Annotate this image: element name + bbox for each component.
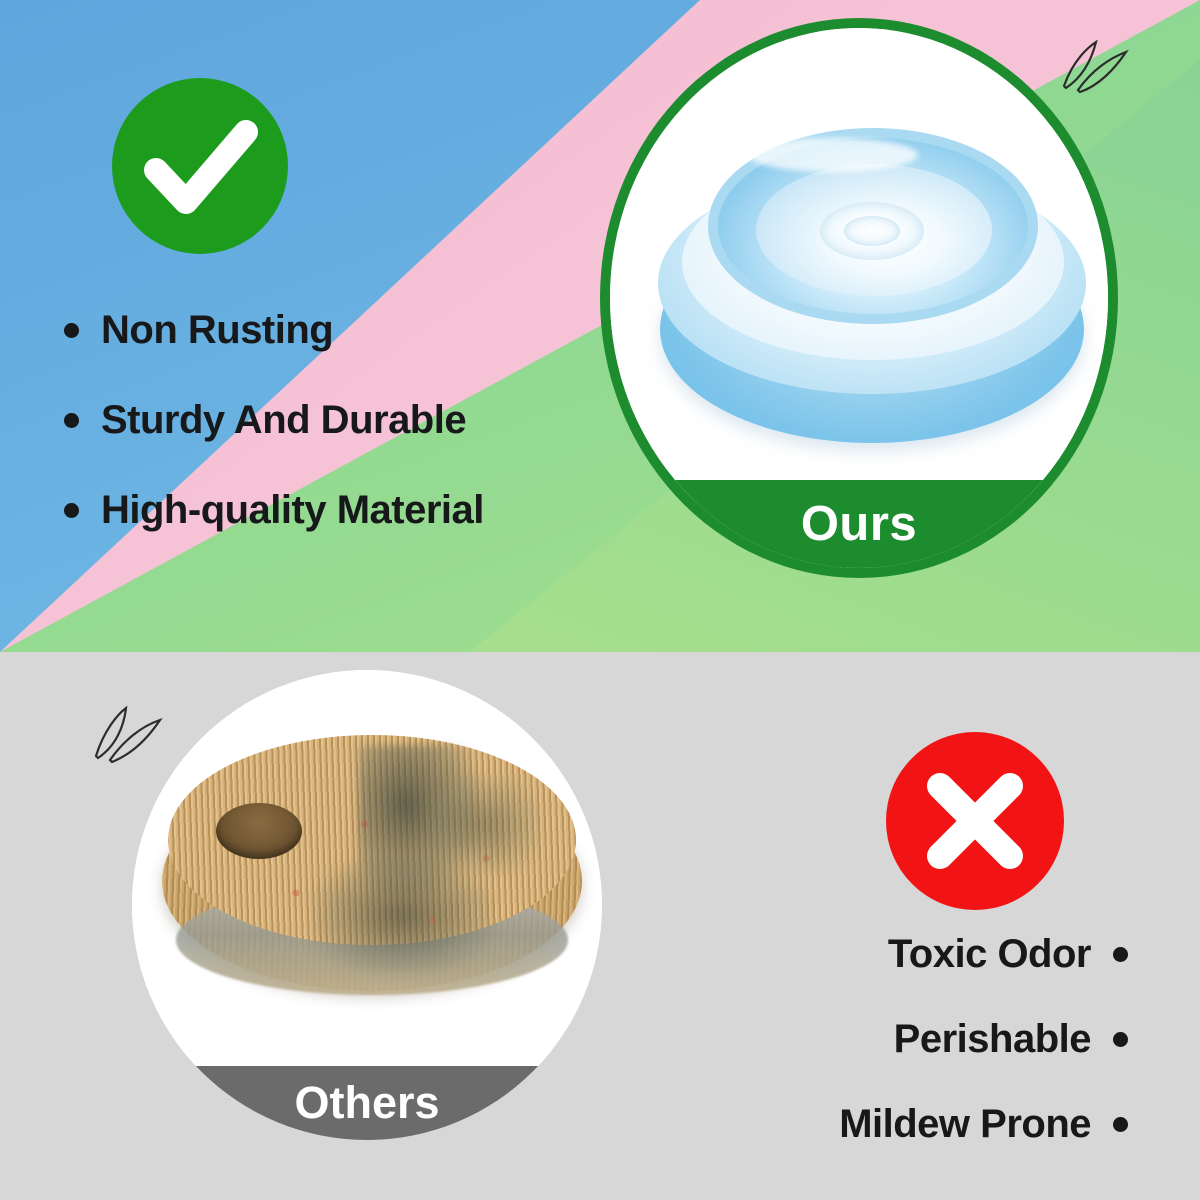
con-label: Mildew Prone bbox=[839, 1102, 1091, 1147]
others-label-band: Others bbox=[132, 1066, 602, 1140]
blue-silicone-lid-illustration bbox=[652, 120, 1092, 450]
check-circle-icon bbox=[112, 78, 288, 254]
pros-list: Non Rusting Sturdy And Durable High-qual… bbox=[50, 308, 670, 578]
ours-product-photo bbox=[610, 28, 1108, 500]
bullet-dot-icon bbox=[1113, 947, 1128, 962]
others-product-photo bbox=[132, 670, 602, 1070]
list-item: Toxic Odor bbox=[620, 932, 1140, 977]
ours-label: Ours bbox=[801, 496, 917, 552]
top-panel: Non Rusting Sturdy And Durable High-qual… bbox=[0, 0, 1200, 652]
con-label: Perishable bbox=[894, 1017, 1091, 1062]
pro-label: Sturdy And Durable bbox=[101, 398, 466, 443]
bottom-panel: Others Toxic Odor Perishable Mildew Pron… bbox=[0, 652, 1200, 1200]
cross-circle-icon bbox=[886, 732, 1064, 910]
list-item: Perishable bbox=[620, 1017, 1140, 1062]
bullet-dot-icon bbox=[64, 413, 79, 428]
bullet-dot-icon bbox=[64, 323, 79, 338]
others-card: Others bbox=[132, 670, 602, 1140]
others-label: Others bbox=[294, 1077, 439, 1129]
pro-label: High-quality Material bbox=[101, 488, 484, 533]
comparison-infographic: Non Rusting Sturdy And Durable High-qual… bbox=[0, 0, 1200, 1200]
bullet-dot-icon bbox=[1113, 1032, 1128, 1047]
bullet-dot-icon bbox=[1113, 1117, 1128, 1132]
con-label: Toxic Odor bbox=[888, 932, 1091, 977]
bamboo-lid-illustration bbox=[162, 735, 582, 1035]
list-item: Non Rusting bbox=[50, 308, 670, 353]
ours-label-band: Ours bbox=[610, 480, 1108, 568]
pro-label: Non Rusting bbox=[101, 308, 333, 353]
cons-list: Toxic Odor Perishable Mildew Prone bbox=[620, 932, 1140, 1187]
list-item: Mildew Prone bbox=[620, 1102, 1140, 1147]
ours-card: Ours bbox=[600, 18, 1118, 578]
list-item: High-quality Material bbox=[50, 488, 670, 533]
list-item: Sturdy And Durable bbox=[50, 398, 670, 443]
bullet-dot-icon bbox=[64, 503, 79, 518]
